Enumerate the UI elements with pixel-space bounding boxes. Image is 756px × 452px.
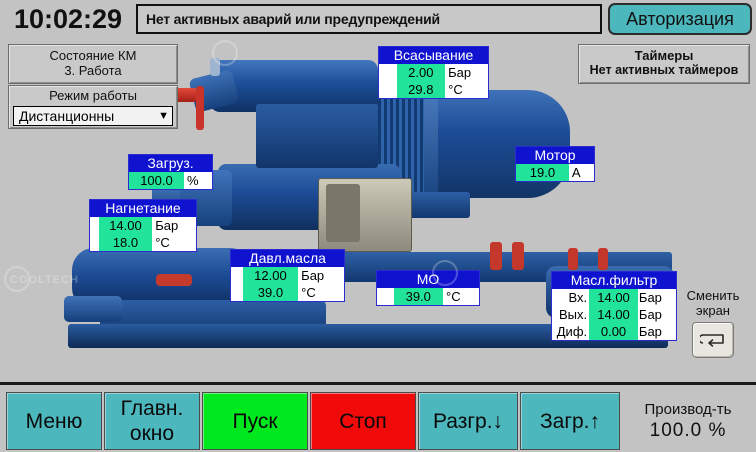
oil-filter-row-differential: Диф. 0.00 Бар	[552, 323, 676, 340]
timers-panel: Таймеры Нет активных таймеров	[578, 44, 750, 84]
start-button-label: Пуск	[232, 409, 277, 434]
suction-row-temperature: 29.8 °C	[379, 81, 488, 98]
load-button-label: Загр.↑	[540, 409, 600, 434]
oil-filter-inlet-value: 14.00	[589, 289, 638, 306]
chevron-down-icon[interactable]: ▼	[158, 111, 169, 122]
authorization-button[interactable]: Авторизация	[608, 3, 752, 35]
main-window-button-label-line2: окно	[130, 421, 174, 446]
oil-pressure-row-temperature: 39.0 °C	[231, 284, 344, 301]
discharge-pressure-value: 14.00	[99, 217, 152, 234]
mo-row: 39.0 °C	[377, 288, 479, 305]
discharge-temperature-value: 18.0	[99, 234, 152, 251]
oil-filter-inlet-label: Вх.	[552, 289, 589, 306]
oil-filter-diff-unit: Бар	[638, 323, 676, 340]
watermark-ring-icon	[4, 266, 30, 292]
stop-button[interactable]: Стоп	[310, 392, 416, 450]
mo-unit: °C	[443, 288, 479, 305]
change-screen-label-line1: Сменить	[676, 288, 750, 303]
menu-button[interactable]: Меню	[6, 392, 102, 450]
mo-value: 39.0	[394, 288, 444, 305]
suction-pressure-unit: Бар	[445, 64, 488, 81]
suction-temperature-unit: °C	[445, 81, 488, 98]
discharge-readout: Нагнетание 14.00 Бар 18.0 °C	[89, 199, 197, 252]
suction-pressure-value: 2.00	[397, 64, 446, 81]
motor-current-unit: A	[569, 164, 594, 181]
compressor-state-panel: Состояние КМ 3. Работа	[8, 44, 178, 84]
oil-pressure-row-pressure: 12.00 Бар	[231, 267, 344, 284]
oil-filter-outlet-label: Вых.	[552, 306, 589, 323]
mo-title: МО	[377, 271, 479, 288]
oil-filter-title: Масл.фильтр	[552, 272, 676, 289]
oil-filter-inlet-unit: Бар	[638, 289, 676, 306]
enter-key-glyph	[700, 332, 726, 348]
main-window-button[interactable]: Главн. окно	[104, 392, 200, 450]
suction-title: Всасывание	[379, 47, 488, 64]
oil-pressure-unit: Бар	[298, 267, 344, 284]
oil-filter-outlet-value: 14.00	[589, 306, 638, 323]
oil-filter-diff-value: 0.00	[589, 323, 638, 340]
capacity-label: Производ-ть	[645, 400, 732, 419]
load-value: 100.0	[129, 172, 184, 189]
capacity-value: 100.0 %	[650, 419, 727, 443]
discharge-temperature-unit: °C	[152, 234, 196, 251]
main-mimic-area: Состояние КМ 3. Работа Режим работы Дист…	[0, 38, 756, 382]
operating-mode-panel: Режим работы Дистанционны ▼	[8, 85, 178, 129]
discharge-row-temperature: 18.0 °C	[90, 234, 196, 251]
suction-temperature-value: 29.8	[397, 81, 446, 98]
oil-filter-row-outlet: Вых. 14.00 Бар	[552, 306, 676, 323]
alarm-status-text: Нет активных аварий или предупреждений	[146, 11, 440, 27]
oil-filter-diff-label: Диф.	[552, 323, 589, 340]
oil-temperature-value: 39.0	[243, 284, 298, 301]
start-button[interactable]: Пуск	[202, 392, 308, 450]
load-row: 100.0 %	[129, 172, 212, 189]
top-status-bar: 10:02:29 Нет активных аварий или предупр…	[0, 0, 756, 38]
motor-readout: Мотор 19.0 A	[515, 146, 595, 182]
unload-button[interactable]: Разгр.↓	[418, 392, 518, 450]
suction-readout: Всасывание 2.00 Бар 29.8 °C	[378, 46, 489, 99]
oil-pressure-readout: Давл.масла 12.00 Бар 39.0 °C	[230, 249, 345, 302]
load-title: Загруз.	[129, 155, 212, 172]
change-screen-control[interactable]: Сменить экран	[676, 288, 750, 368]
load-readout: Загруз. 100.0 %	[128, 154, 213, 190]
hmi-screen: 10:02:29 Нет активных аварий или предупр…	[0, 0, 756, 452]
motor-title: Мотор	[516, 147, 594, 164]
timers-title: Таймеры	[579, 48, 749, 63]
clock-display: 10:02:29	[6, 3, 130, 35]
stop-button-label: Стоп	[339, 409, 387, 434]
capacity-display: Производ-ть 100.0 %	[626, 392, 750, 450]
compressor-state-value: 3. Работа	[9, 63, 177, 78]
oil-filter-outlet-unit: Бар	[638, 306, 676, 323]
compressor-state-title: Состояние КМ	[9, 48, 177, 63]
oil-temperature-unit: °C	[298, 284, 344, 301]
discharge-pressure-unit: Бар	[152, 217, 196, 234]
timers-value: Нет активных таймеров	[579, 63, 749, 78]
load-unit: %	[184, 172, 212, 189]
operating-mode-title: Режим работы	[9, 88, 177, 103]
motor-current-value: 19.0	[516, 164, 569, 181]
motor-row: 19.0 A	[516, 164, 594, 181]
oil-filter-readout: Масл.фильтр Вх. 14.00 Бар Вых. 14.00 Бар…	[551, 271, 677, 341]
oil-pressure-title: Давл.масла	[231, 250, 344, 267]
main-window-button-label-line1: Главн.	[121, 396, 184, 421]
alarm-status-box[interactable]: Нет активных аварий или предупреждений	[136, 4, 602, 34]
suction-row-pressure: 2.00 Бар	[379, 64, 488, 81]
enter-key-icon[interactable]	[692, 322, 734, 358]
operating-mode-value: Дистанционны	[19, 108, 114, 124]
oil-pressure-value: 12.00	[243, 267, 298, 284]
load-button[interactable]: Загр.↑	[520, 392, 620, 450]
discharge-row-pressure: 14.00 Бар	[90, 217, 196, 234]
operating-mode-select[interactable]: Дистанционны ▼	[13, 106, 173, 126]
change-screen-label-line2: экран	[676, 303, 750, 318]
mo-readout: МО 39.0 °C	[376, 270, 480, 306]
bottom-button-bar: Меню Главн. окно Пуск Стоп Разгр.↓ Загр.…	[0, 382, 756, 452]
discharge-title: Нагнетание	[90, 200, 196, 217]
menu-button-label: Меню	[26, 409, 83, 434]
unload-button-label: Разгр.↓	[433, 409, 503, 434]
oil-filter-row-inlet: Вх. 14.00 Бар	[552, 289, 676, 306]
